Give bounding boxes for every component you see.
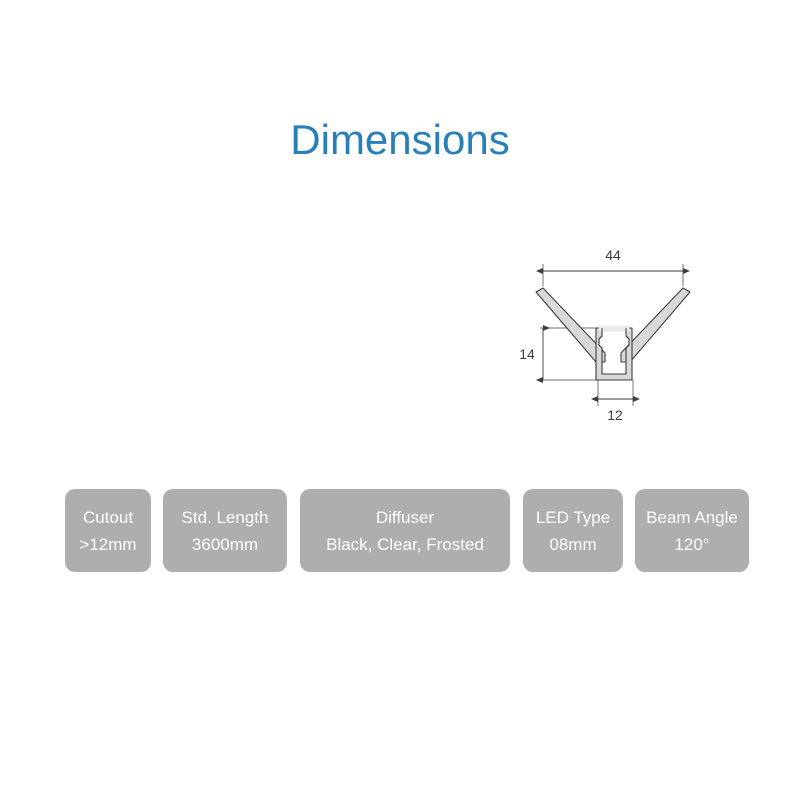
- spec-badge-diffuser-label: Diffuser: [376, 505, 434, 530]
- spec-badge-led-type-label: LED Type: [536, 505, 610, 530]
- page-title: Dimensions: [0, 112, 800, 168]
- channel-body: [596, 328, 632, 380]
- spec-badge-cutout: Cutout >12mm: [65, 489, 151, 572]
- spec-badge-led-type: LED Type 08mm: [523, 489, 623, 572]
- left-wing: [536, 288, 605, 362]
- dimension-channel-width: 12: [598, 399, 633, 423]
- spec-badge-std-length-value: 3600mm: [192, 532, 258, 557]
- spec-badge-row: Cutout >12mm Std. Length 3600mm Diffuser…: [0, 489, 800, 575]
- spec-badge-beam-angle: Beam Angle 120°: [635, 489, 749, 572]
- spec-badge-cutout-label: Cutout: [83, 505, 133, 530]
- dimension-height-label: 14: [519, 346, 535, 362]
- extension-lines: [540, 264, 683, 406]
- dimension-drawing: 44 14 12: [495, 240, 730, 435]
- spec-badge-beam-angle-value: 120°: [674, 532, 709, 557]
- spec-badge-cutout-value: >12mm: [79, 532, 136, 557]
- spec-badge-std-length: Std. Length 3600mm: [163, 489, 287, 572]
- spec-badge-beam-angle-label: Beam Angle: [646, 505, 738, 530]
- dimension-width: 44: [543, 247, 683, 271]
- profile-body: [536, 288, 690, 380]
- spec-badge-led-type-value: 08mm: [549, 532, 596, 557]
- spec-badge-diffuser-value: Black, Clear, Frosted: [326, 532, 484, 557]
- diffuser-cover: [599, 326, 629, 331]
- dimension-width-label: 44: [605, 247, 621, 263]
- led-profile-cross-section-svg: 44 14 12: [495, 240, 730, 435]
- spec-badge-std-length-label: Std. Length: [182, 505, 269, 530]
- dimension-height: 14: [519, 328, 543, 380]
- dimension-channel-width-label: 12: [607, 407, 623, 423]
- spec-badge-diffuser: Diffuser Black, Clear, Frosted: [300, 489, 510, 572]
